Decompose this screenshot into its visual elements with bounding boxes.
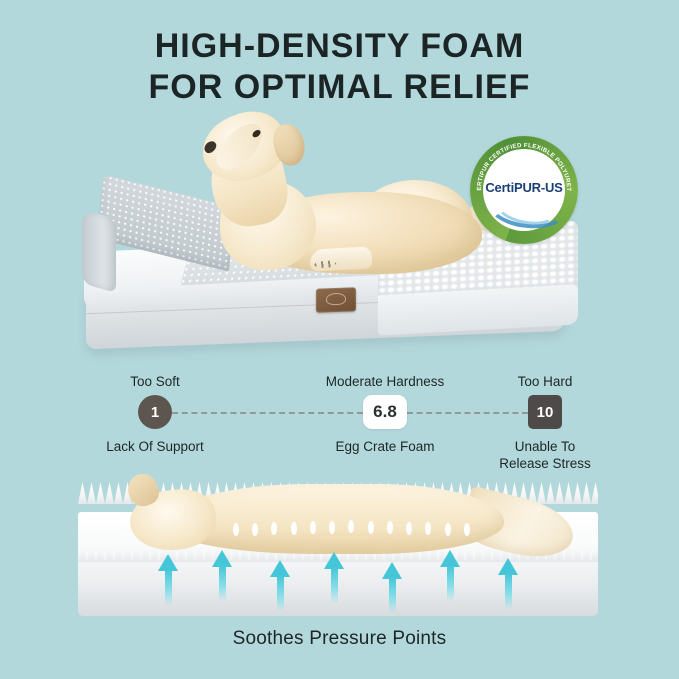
foam-tooth — [87, 482, 96, 504]
pressure-arrow-icon — [158, 554, 178, 606]
foam-tooth — [573, 482, 582, 504]
dog-paw — [309, 246, 372, 271]
pressure-relief-illustration — [0, 468, 679, 623]
foam-tooth — [96, 482, 105, 504]
headline-line-1: HIGH-DENSITY FOAM — [155, 27, 525, 65]
spine-dot — [406, 522, 412, 535]
spine-dot — [368, 521, 374, 534]
dog-nose — [202, 139, 218, 155]
spine-dot — [445, 523, 451, 536]
dog-muzzle — [209, 116, 269, 177]
dog-ear — [270, 121, 309, 169]
scale-left-bottom-label: Lack Of Support — [75, 438, 235, 455]
scale-dash-line-left — [172, 412, 363, 414]
scale-middle-top-label: Moderate Hardness — [295, 374, 475, 389]
spine-dot — [271, 522, 277, 535]
pressure-arrow-icon — [498, 558, 518, 610]
bed-bolster-side — [82, 209, 116, 293]
pressure-arrow-icon — [212, 550, 232, 602]
pressure-arrow-icon — [270, 560, 290, 612]
scale-marker-too-soft: 1 — [138, 395, 172, 429]
spine-dot — [387, 521, 393, 534]
foam-tooth — [87, 540, 96, 562]
arrow-stem — [505, 573, 512, 610]
badge-label: CertiPUR-US — [470, 180, 578, 195]
arrow-stem — [277, 575, 284, 612]
spine-dot — [329, 521, 335, 534]
arrow-stem — [447, 565, 454, 602]
spine-dot — [464, 523, 470, 536]
hardness-scale: Too Soft 1 Lack Of Support Moderate Hard… — [0, 378, 679, 474]
foam-tooth — [78, 540, 87, 562]
foam-tooth — [78, 482, 87, 504]
scale-right-top-label: Too Hard — [485, 374, 605, 389]
hero-product-image: CONTAINS CERTIPUR CERTIFIED FLEXIBLE POL… — [0, 108, 679, 370]
foam-tooth — [573, 540, 582, 562]
spine-dot — [291, 522, 297, 535]
scale-marker-moderate: 6.8 — [363, 395, 407, 429]
pressure-arrow-icon — [440, 550, 460, 602]
scale-right-bottom-line-1: Unable To — [515, 439, 576, 454]
arrow-stem — [219, 565, 226, 602]
arrow-stem — [389, 577, 396, 614]
scale-right-bottom-label: Unable To Release Stress — [470, 438, 620, 472]
arrow-stem — [165, 569, 172, 606]
spine-dot — [310, 521, 316, 534]
arrow-stem — [331, 567, 338, 604]
foam-tooth — [582, 482, 591, 504]
foam-tooth — [96, 540, 105, 562]
scale-dash-line-right — [407, 412, 528, 414]
certipur-us-badge-icon: CONTAINS CERTIPUR CERTIFIED FLEXIBLE POL… — [470, 136, 578, 244]
scale-marker-too-hard: 10 — [528, 395, 562, 429]
scale-left-top-label: Too Soft — [95, 374, 215, 389]
spine-dot — [348, 520, 354, 533]
pressure-arrow-icon — [324, 552, 344, 604]
scale-middle-bottom-label: Egg Crate Foam — [305, 438, 465, 455]
spine-pressure-dots — [230, 520, 480, 534]
page-title: HIGH-DENSITY FOAM FOR OPTIMAL RELIEF — [0, 26, 679, 108]
pressure-arrow-icon — [382, 562, 402, 614]
spine-dot — [425, 522, 431, 535]
spine-dot — [252, 523, 258, 536]
bottom-caption: Soothes Pressure Points — [0, 628, 679, 650]
foam-tooth — [582, 540, 591, 562]
foam-tooth — [591, 540, 598, 562]
headline-line-2: FOR OPTIMAL RELIEF — [0, 67, 679, 108]
infographic-page: HIGH-DENSITY FOAM FOR OPTIMAL RELIEF — [0, 0, 679, 679]
foam-tooth — [591, 482, 598, 504]
